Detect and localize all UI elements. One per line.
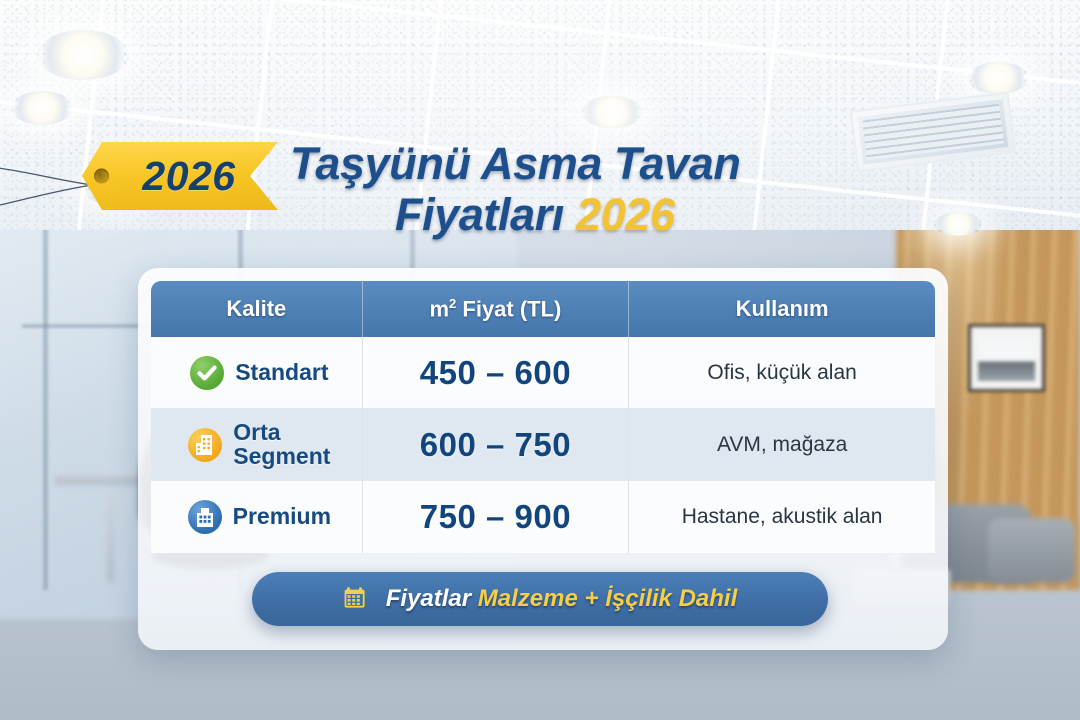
cell-price: 450 – 600: [363, 337, 630, 409]
quality-group: Standart: [151, 356, 362, 390]
page-title: Taşyünü Asma Tavan Fiyatları 2026: [290, 140, 740, 240]
usage-value: Hastane, akustik alan: [682, 505, 883, 528]
price-table: Kalite m2 Fiyat (TL) Kullanım Standart: [151, 281, 935, 553]
cell-usage: Ofis, küçük alan: [629, 337, 935, 409]
quality-label-line1: Orta: [233, 419, 280, 445]
table-head: Kalite m2 Fiyat (TL) Kullanım: [151, 281, 935, 337]
usage-value: Ofis, küçük alan: [707, 361, 856, 384]
title-line-1: Taşyünü Asma Tavan: [290, 140, 740, 188]
ceiling-spotlight-icon: [967, 62, 1029, 94]
cell-quality: Standart: [151, 337, 363, 409]
price-tag-shape: 2026: [82, 142, 278, 210]
column-header-usage: Kullanım: [629, 281, 935, 337]
cell-price: 600 – 750: [363, 409, 630, 481]
usage-value: AVM, mağaza: [717, 433, 847, 456]
column-header-quality: Kalite: [151, 281, 363, 337]
title-line-2: Fiyatları 2026: [290, 190, 740, 240]
quality-label-line2: Segment: [233, 443, 330, 469]
poster-canvas: 2026 Taşyünü Asma Tavan Fiyatları 2026 K…: [0, 0, 1080, 720]
quality-label: Premium: [233, 505, 331, 529]
bg-framed-picture: [968, 324, 1046, 392]
ceiling-spotlight-icon: [37, 30, 129, 80]
office-building-icon: [188, 428, 222, 462]
table-row: Premium 750 – 900 Hastane, akustik alan: [151, 481, 935, 553]
banner-text-main: Fiyatlar: [386, 585, 471, 612]
tag-year-label: 2026: [124, 153, 235, 200]
price-value: 750 – 900: [420, 498, 571, 535]
quality-group: Premium: [151, 500, 362, 534]
title-line-2-accent: 2026: [576, 189, 675, 240]
cell-quality: Orta Segment: [151, 409, 363, 481]
table-row: Standart 450 – 600 Ofis, küçük alan: [151, 337, 935, 409]
included-note-banner: Fiyatlar Malzeme + İşçilik Dahil: [252, 572, 828, 626]
check-circle-icon: [190, 356, 224, 390]
cell-price: 750 – 900: [363, 481, 630, 553]
table-body: Standart 450 – 600 Ofis, küçük alan: [151, 337, 935, 553]
hospital-building-icon: [188, 500, 222, 534]
column-header-price: m2 Fiyat (TL): [363, 281, 630, 337]
bg-desk: [108, 490, 113, 584]
cell-usage: Hastane, akustik alan: [629, 481, 935, 553]
quality-label: Standart: [235, 361, 328, 385]
quality-group: Orta Segment: [151, 421, 362, 469]
bg-armchair: [988, 518, 1074, 583]
banner-text-accent: Malzeme + İşçilik Dahil: [478, 585, 737, 612]
cell-quality: Premium: [151, 481, 363, 553]
column-header-price-m: m: [429, 296, 449, 321]
banner-text: Fiyatlar Malzeme + İşçilik Dahil: [386, 585, 738, 613]
ceiling-spotlight-icon: [11, 91, 73, 125]
quality-label: Orta Segment: [233, 421, 330, 469]
price-tag: 2026: [82, 142, 278, 210]
table-row: Orta Segment 600 – 750 AVM, mağaza: [151, 409, 935, 481]
bg-mullion: [43, 216, 48, 590]
table-header-row: Kalite m2 Fiyat (TL) Kullanım: [151, 281, 935, 337]
calendar-icon: [343, 584, 373, 614]
column-header-price-rest: Fiyat (TL): [456, 296, 561, 321]
tag-hole-icon: [94, 169, 109, 184]
price-value: 450 – 600: [420, 354, 571, 391]
price-value: 600 – 750: [420, 426, 571, 463]
cell-usage: AVM, mağaza: [629, 409, 935, 481]
title-line-2-main: Fiyatları: [395, 189, 564, 240]
